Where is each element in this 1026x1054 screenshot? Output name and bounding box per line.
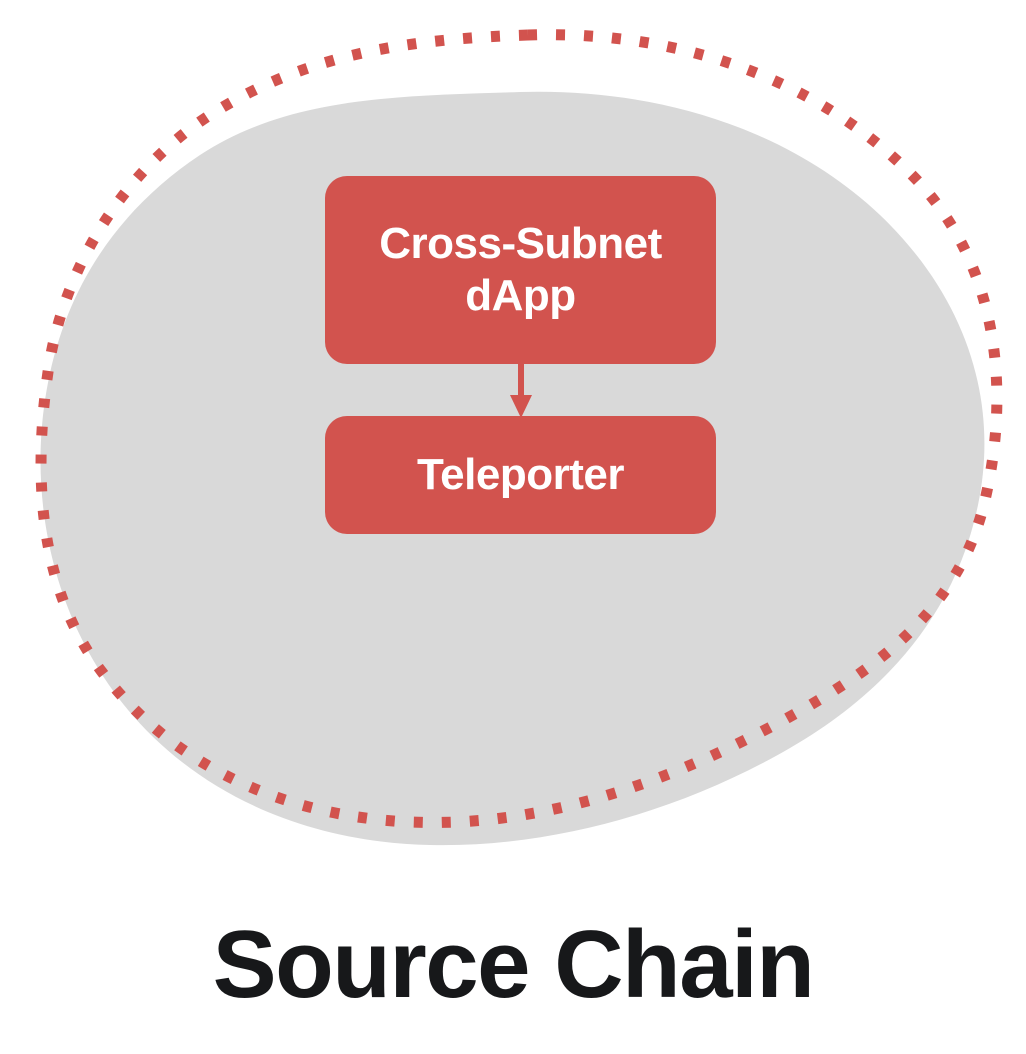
diagram-title: Source Chain	[0, 912, 1026, 1018]
node-teleporter[interactable]: Teleporter	[325, 416, 716, 534]
arrow-head-icon	[510, 395, 532, 418]
node-cross-subnet-dapp[interactable]: Cross-Subnet dApp	[325, 176, 716, 364]
node-cross-subnet-dapp-label: Cross-Subnet dApp	[365, 218, 675, 322]
arrow-stem	[518, 362, 524, 398]
node-teleporter-label: Teleporter	[403, 449, 638, 501]
diagram-canvas: Cross-Subnet dApp Teleporter Source Chai…	[0, 0, 1026, 1054]
arrow-dapp-to-teleporter	[498, 362, 544, 418]
